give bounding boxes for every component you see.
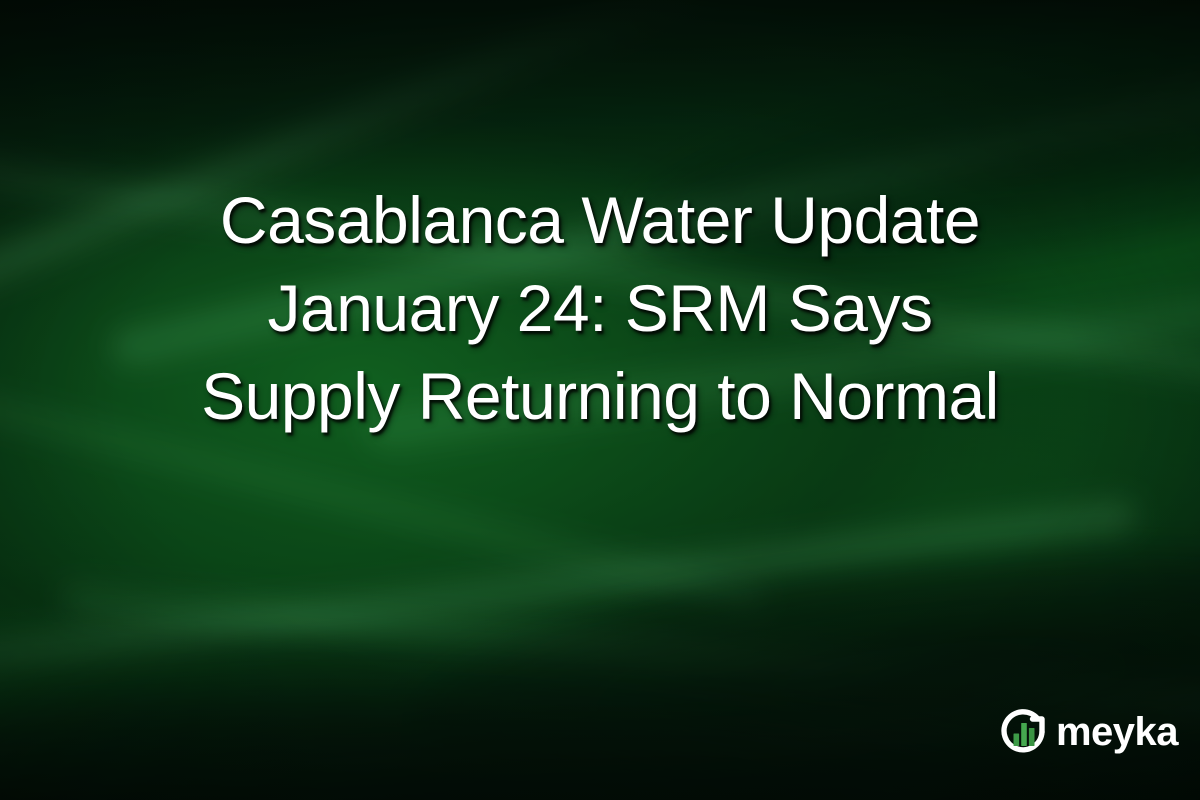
headline-line-3: Supply Returning to Normal bbox=[40, 352, 1160, 440]
light-streak bbox=[0, 409, 1147, 791]
headline: Casablanca Water Update January 24: SRM … bbox=[0, 176, 1200, 440]
meyka-logo: meyka bbox=[997, 706, 1178, 758]
meyka-wordmark: meyka bbox=[1056, 712, 1178, 752]
headline-line-2: January 24: SRM Says bbox=[40, 264, 1160, 352]
dark-wave-band bbox=[0, 657, 1109, 800]
promo-banner: Casablanca Water Update January 24: SRM … bbox=[0, 0, 1200, 800]
meyka-bar-chart-ring-icon bbox=[997, 706, 1049, 758]
light-streak bbox=[211, 594, 1200, 800]
headline-line-1: Casablanca Water Update bbox=[40, 176, 1160, 264]
